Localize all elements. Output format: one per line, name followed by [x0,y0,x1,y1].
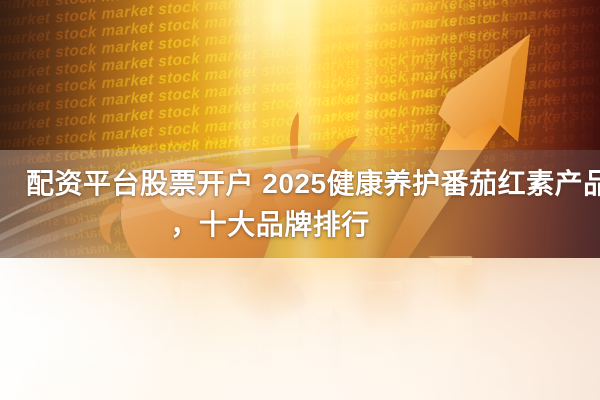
banner-image: stock market stock market stock market s… [0,0,600,400]
caption-line-1: 配资平台股票开户 2025健康养护番茄红素产品 [26,163,574,204]
caption-line-2: ，十大品牌排行 [26,204,574,245]
caption-block: 配资平台股票开户 2025健康养护番茄红素产品 ，十大品牌排行 [0,150,600,258]
